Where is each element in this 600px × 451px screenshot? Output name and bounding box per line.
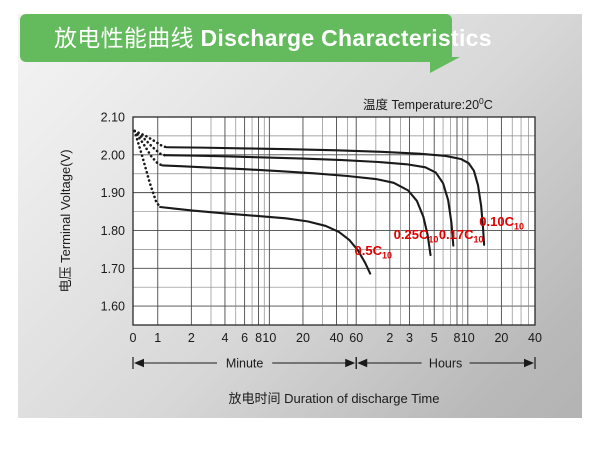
x-tick-label: 1	[154, 331, 161, 345]
page-root: 放电性能曲线 Discharge Characteristics 2.102.0…	[0, 0, 600, 451]
x-tick-label: 8	[255, 331, 262, 345]
x-tick-label: 10	[461, 331, 475, 345]
x-tick-label: 20	[494, 331, 508, 345]
x-tick-label: 0	[130, 331, 137, 345]
svg-text:温度 Temperature:200C: 温度 Temperature:200C	[363, 96, 493, 112]
range-bar-hours: Hours	[356, 357, 535, 371]
y-tick-label: 1.90	[101, 186, 125, 200]
y-tick-label: 1.70	[101, 262, 125, 276]
x-tick-label: 3	[406, 331, 413, 345]
range-bar-minute: Minute	[133, 357, 356, 371]
temperature-annotation: 温度 Temperature:200C	[363, 96, 493, 112]
x-tick-label: 60	[349, 331, 363, 345]
x-tick-label: 6	[241, 331, 248, 345]
svg-text:放电时间 Duration of discharge Ti: 放电时间 Duration of discharge Time	[229, 391, 440, 406]
x-tick-label: 40	[330, 331, 344, 345]
x-tick-label: 10	[262, 331, 276, 345]
x-tick-label: 40	[528, 331, 542, 345]
x-tick-label: 2	[386, 331, 393, 345]
chart-svg: 2.102.001.901.801.701.600124681020406023…	[18, 14, 582, 418]
svg-text:Minute: Minute	[226, 357, 264, 371]
y-tick-label: 2.10	[101, 111, 125, 125]
svg-text:Hours: Hours	[429, 357, 462, 371]
svg-text:电压 Terminal Voltage(V): 电压 Terminal Voltage(V)	[58, 149, 73, 292]
x-axis-title: 放电时间 Duration of discharge Time	[229, 391, 440, 406]
x-tick-label: 20	[296, 331, 310, 345]
x-tick-label: 2	[188, 331, 195, 345]
y-tick-label: 1.80	[101, 224, 125, 238]
y-tick-label: 2.00	[101, 148, 125, 162]
x-tick-label: 5	[431, 331, 438, 345]
y-tick-label: 1.60	[101, 300, 125, 314]
discharge-chart: 2.102.001.901.801.701.600124681020406023…	[18, 14, 582, 418]
y-axis-title: 电压 Terminal Voltage(V)	[58, 149, 73, 292]
x-tick-label: 4	[221, 331, 228, 345]
x-tick-label: 8	[454, 331, 461, 345]
